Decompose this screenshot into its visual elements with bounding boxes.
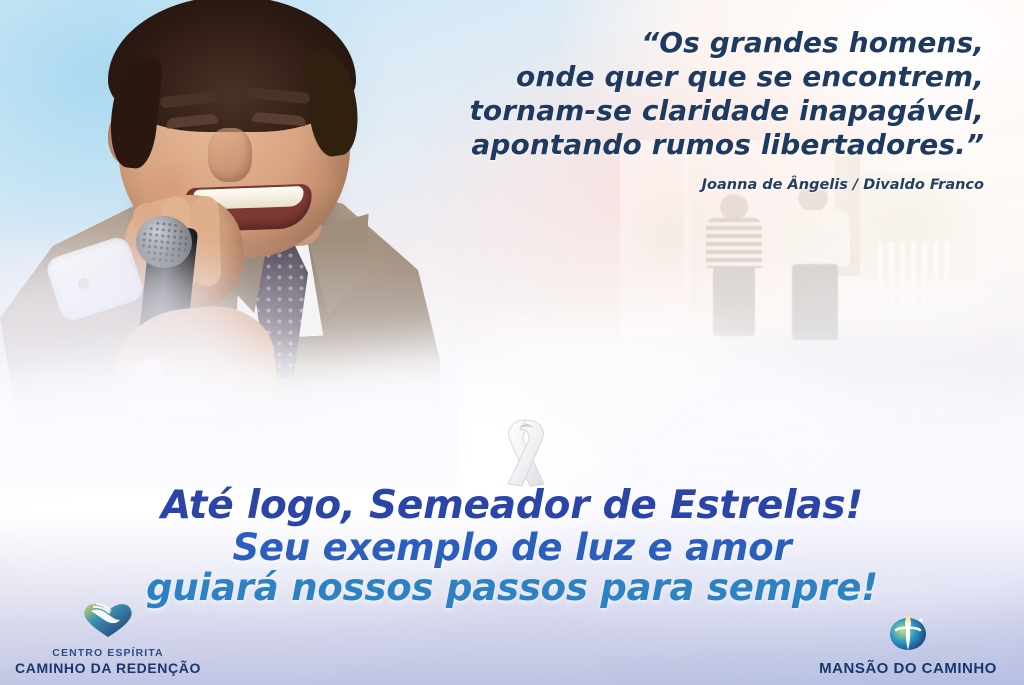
logo-right-label: MANSÃO DO CAMINHO — [798, 660, 1018, 677]
mourning-ribbon-icon — [486, 406, 566, 492]
headline-line-1: Até logo, Semeador de Estrelas! — [0, 486, 1024, 527]
quote-line-1: “Os grandes homens, — [364, 26, 984, 60]
quote-line-4: apontando rumos libertadores.” — [364, 128, 984, 162]
quote-block: “Os grandes homens, onde quer que se enc… — [364, 26, 984, 193]
quote-attribution: Joanna de Ângelis / Divaldo Franco — [364, 177, 984, 193]
quote-line-3: tornam-se claridade inapagável, — [364, 94, 984, 128]
logo-centro-espirita[interactable]: CENTRO ESPÍRITA CAMINHO DA REDENÇÃO — [8, 599, 208, 677]
quote-line-2: onde quer que se encontrem, — [364, 60, 984, 94]
memorial-poster: “Os grandes homens, onde quer que se enc… — [0, 0, 1024, 685]
heart-hands-icon — [8, 599, 208, 644]
portrait-fade-overlay — [0, 240, 460, 490]
logo-left-line-2: CAMINHO DA REDENÇÃO — [8, 660, 208, 677]
headline-line-2: Seu exemplo de luz e amor — [0, 529, 1024, 567]
globe-figure-icon — [798, 608, 1018, 657]
logo-mansao-do-caminho[interactable]: MANSÃO DO CAMINHO — [798, 608, 1018, 677]
nose — [208, 128, 252, 182]
headline-block: Até logo, Semeador de Estrelas! Seu exem… — [0, 486, 1024, 607]
logo-left-line-1: CENTRO ESPÍRITA — [8, 647, 208, 660]
